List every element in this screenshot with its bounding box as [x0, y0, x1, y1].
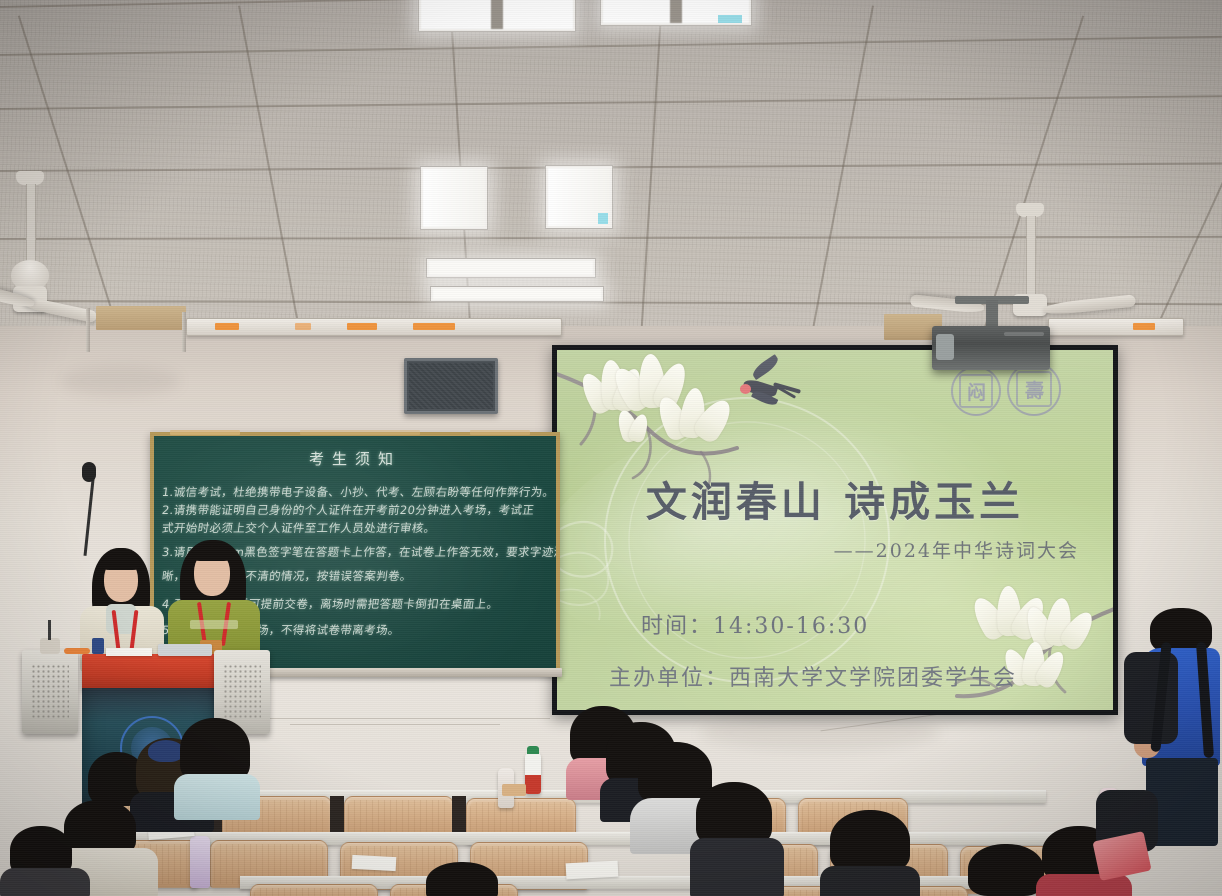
projection-screen[interactable]: 闷 壽	[557, 350, 1113, 710]
swallow-head	[740, 384, 751, 394]
hair-front	[192, 546, 232, 561]
classroom-photo: 闷 壽	[0, 0, 1222, 896]
backpack	[1124, 652, 1178, 744]
slide-time-line: 时间：14:30-16:30	[641, 608, 869, 640]
audience-member	[820, 810, 920, 896]
ceiling-fan-left	[0, 178, 130, 318]
blackboard-heading: 考生须知	[154, 448, 556, 469]
ceiling-grid-line	[810, 6, 873, 340]
fan-rod	[1026, 216, 1036, 294]
ceiling-grid-line	[0, 95, 1222, 109]
ceiling-grid-line	[1150, 30, 1222, 340]
seat[interactable]	[250, 884, 378, 896]
water-bottle	[525, 752, 541, 794]
hair-front	[102, 554, 140, 570]
thermos-purple	[190, 836, 210, 888]
ceiling-light-panel	[426, 258, 596, 278]
standing-student	[1140, 608, 1222, 896]
monitor-screen	[409, 363, 493, 409]
paper-sheet	[566, 861, 619, 880]
projector-vent	[1004, 332, 1044, 336]
shirt-print	[190, 620, 238, 629]
slide-organizer-line: 主办单位：西南大学文学院团委学生会	[609, 660, 1017, 692]
slide-main-title: 文润春山 诗成玉兰	[557, 468, 1113, 528]
fan-rod	[26, 184, 36, 266]
screen-roller-housing-left	[186, 318, 562, 336]
ceiling	[0, 0, 1222, 340]
blackboard-line: 式开始时必须上交个人证件至工作人员处进行审核。	[161, 520, 551, 536]
ceiling-light-panel	[418, 0, 576, 32]
badge	[92, 638, 104, 654]
fan-blade	[1043, 294, 1136, 316]
speaker-grille	[31, 664, 69, 718]
swallow-bird	[727, 368, 803, 414]
ceiling-grid-line	[238, 6, 301, 340]
ceiling-grid-line	[640, 1, 662, 340]
magnolia-bud	[613, 406, 653, 446]
support-pole	[182, 312, 186, 352]
ceiling-light-panel	[430, 286, 604, 302]
ceiling-projector	[932, 326, 1050, 370]
blackboard-line: 2.请携带能证明自己身份的个人证件在开考前20分钟进入考场，考试正	[161, 502, 551, 518]
seal-inner: 闷	[959, 374, 992, 407]
audience-member	[172, 718, 262, 818]
screen-valance-left	[96, 306, 186, 330]
magnolia-blossom	[657, 384, 735, 450]
screen-roller-housing-right	[1048, 318, 1184, 336]
marker-pen	[64, 648, 90, 654]
ceiling-light-panel	[420, 166, 488, 230]
fan-mount	[1016, 203, 1044, 217]
wall-mounted-monitor[interactable]	[404, 358, 498, 414]
paper-sheet	[352, 855, 397, 871]
fan-mount	[16, 171, 44, 185]
audience-member	[420, 862, 508, 896]
seal-inner: 壽	[1016, 371, 1052, 407]
bottle-cap	[527, 746, 539, 754]
podium-top	[82, 654, 218, 690]
seal-logo-right: 壽	[1007, 362, 1061, 416]
audience-member	[0, 826, 90, 896]
blackboard-line: 1.诚信考试，杜绝携带电子设备、小抄、代考、左顾右盼等任何作弊行为。	[161, 484, 551, 500]
ceiling-light-panel	[545, 165, 613, 229]
microphone-head	[82, 462, 96, 482]
support-pole	[86, 308, 90, 352]
projection-screen-frame: 闷 壽	[552, 345, 1118, 715]
microphone-base	[40, 638, 60, 654]
podium-laptop	[158, 644, 212, 656]
audience-member	[690, 782, 784, 896]
slide-subtitle: ——2024年中华诗词大会	[834, 536, 1079, 563]
microphone-stem	[48, 620, 51, 640]
pencil-case	[502, 784, 526, 796]
ceiling-light-panel	[600, 0, 752, 26]
projector-lens	[936, 334, 954, 360]
pa-speaker-left	[22, 650, 78, 734]
speaker-grille	[223, 664, 261, 718]
seal-logo-left: 闷	[951, 366, 1001, 416]
podium-paper	[106, 648, 152, 656]
ceiling-grid-line	[0, 36, 1222, 56]
